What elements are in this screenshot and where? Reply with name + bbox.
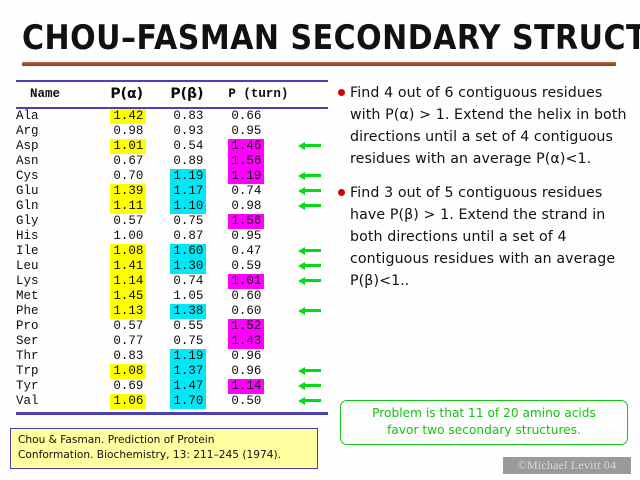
table-row: Lys1.140.741.01 bbox=[16, 274, 328, 289]
cell-p-turn: 1.01 bbox=[224, 274, 298, 289]
cell-residue-name: Gly bbox=[16, 214, 104, 229]
table-row: Met1.451.050.60 bbox=[16, 289, 328, 304]
cell-p-alpha-value: 1.45 bbox=[110, 289, 146, 304]
table-row: Trp1.081.370.96 bbox=[16, 364, 328, 379]
table-row: Pro0.570.551.52 bbox=[16, 319, 328, 334]
cell-p-turn: 0.74 bbox=[224, 184, 298, 199]
propensity-table: Name P(α) P(β) P (turn) Ala1.420.830.66A… bbox=[16, 80, 328, 409]
cell-p-alpha: 1.41 bbox=[104, 259, 164, 274]
cell-residue-name: Ser bbox=[16, 334, 104, 349]
cell-residue-name: Leu bbox=[16, 259, 104, 274]
cell-residue-name: Gln bbox=[16, 199, 104, 214]
cell-p-beta: 0.75 bbox=[164, 214, 224, 229]
row-marker bbox=[298, 304, 328, 319]
cell-p-turn: 1.19 bbox=[224, 169, 298, 184]
cell-p-alpha: 0.57 bbox=[104, 214, 164, 229]
cell-p-turn-value: 0.60 bbox=[228, 289, 264, 304]
row-marker bbox=[298, 108, 328, 124]
table-row: Gly0.570.751.56 bbox=[16, 214, 328, 229]
cell-p-turn-value: 0.74 bbox=[228, 184, 264, 199]
left-arrow-icon bbox=[298, 395, 322, 406]
cell-residue-name: Ile bbox=[16, 244, 104, 259]
cell-p-beta: 0.83 bbox=[164, 108, 224, 124]
cell-p-beta-value: 0.89 bbox=[170, 154, 206, 169]
column-header-p-alpha: P(α) bbox=[104, 81, 164, 108]
row-marker bbox=[298, 169, 328, 184]
bullet-item: Find 3 out of 5 contiguous residues have… bbox=[338, 182, 634, 292]
chou-fasman-table-container: Name P(α) P(β) P (turn) Ala1.420.830.66A… bbox=[16, 80, 328, 415]
cell-p-alpha-value: 1.39 bbox=[110, 184, 146, 199]
cell-residue-name: Val bbox=[16, 394, 104, 409]
cell-p-alpha: 1.01 bbox=[104, 139, 164, 154]
problem-note-line2: favor two secondary structures. bbox=[347, 422, 621, 439]
cell-p-beta: 1.19 bbox=[164, 169, 224, 184]
table-row: Arg0.980.930.95 bbox=[16, 124, 328, 139]
cell-p-alpha-value: 0.69 bbox=[110, 379, 146, 394]
title-block: CHOU–FASMAN SECONDARY STRUCTURE bbox=[22, 22, 622, 66]
cell-p-beta-value: 1.37 bbox=[170, 364, 206, 379]
title-underline-rule bbox=[22, 62, 616, 66]
cell-p-turn: 1.56 bbox=[224, 154, 298, 169]
cell-p-turn-value: 0.66 bbox=[228, 109, 264, 124]
left-arrow-icon bbox=[298, 185, 322, 196]
cell-p-turn-value: 0.47 bbox=[228, 244, 264, 259]
cell-p-beta: 1.47 bbox=[164, 379, 224, 394]
bullet-text: Find 4 out of 6 contiguous residues with… bbox=[350, 82, 634, 170]
column-header-p-beta: P(β) bbox=[164, 81, 224, 108]
row-marker bbox=[298, 229, 328, 244]
bullet-item: Find 4 out of 6 contiguous residues with… bbox=[338, 82, 634, 170]
column-header-name: Name bbox=[16, 81, 104, 108]
cell-p-turn: 1.14 bbox=[224, 379, 298, 394]
row-marker bbox=[298, 289, 328, 304]
row-marker bbox=[298, 214, 328, 229]
cell-p-beta: 1.38 bbox=[164, 304, 224, 319]
cell-p-alpha: 1.00 bbox=[104, 229, 164, 244]
cell-p-beta-value: 1.70 bbox=[170, 394, 206, 409]
cell-p-turn: 1.52 bbox=[224, 319, 298, 334]
cell-p-alpha: 0.83 bbox=[104, 349, 164, 364]
left-arrow-icon bbox=[298, 140, 322, 151]
column-header-marker bbox=[298, 81, 328, 108]
cell-p-alpha-value: 1.08 bbox=[110, 244, 146, 259]
cell-residue-name: His bbox=[16, 229, 104, 244]
left-arrow-icon bbox=[298, 245, 322, 256]
cell-p-alpha: 0.77 bbox=[104, 334, 164, 349]
cell-p-turn: 0.96 bbox=[224, 349, 298, 364]
row-marker bbox=[298, 379, 328, 394]
row-marker bbox=[298, 154, 328, 169]
cell-p-beta-value: 0.74 bbox=[170, 274, 206, 289]
cell-p-alpha-value: 1.11 bbox=[110, 199, 146, 214]
table-header-row: Name P(α) P(β) P (turn) bbox=[16, 81, 328, 108]
cell-p-turn-value: 0.60 bbox=[228, 304, 264, 319]
cell-p-turn: 0.66 bbox=[224, 108, 298, 124]
cell-p-alpha-value: 1.42 bbox=[110, 109, 146, 124]
row-marker bbox=[298, 124, 328, 139]
cell-residue-name: Tyr bbox=[16, 379, 104, 394]
cell-p-beta-value: 1.38 bbox=[170, 304, 206, 319]
left-arrow-icon bbox=[298, 200, 322, 211]
cell-p-alpha: 0.69 bbox=[104, 379, 164, 394]
cell-p-beta: 1.19 bbox=[164, 349, 224, 364]
row-marker bbox=[298, 334, 328, 349]
cell-p-alpha: 0.57 bbox=[104, 319, 164, 334]
left-arrow-icon bbox=[298, 305, 322, 316]
cell-p-turn-value: 1.43 bbox=[228, 334, 264, 349]
cell-p-turn: 0.98 bbox=[224, 199, 298, 214]
cell-p-beta-value: 1.17 bbox=[170, 184, 206, 199]
table-row: Ala1.420.830.66 bbox=[16, 108, 328, 124]
table-row: Tyr0.691.471.14 bbox=[16, 379, 328, 394]
cell-residue-name: Lys bbox=[16, 274, 104, 289]
table-row: His1.000.870.95 bbox=[16, 229, 328, 244]
cell-p-beta: 0.93 bbox=[164, 124, 224, 139]
cell-p-beta: 1.70 bbox=[164, 394, 224, 409]
cell-p-beta: 1.17 bbox=[164, 184, 224, 199]
cell-p-alpha-value: 0.57 bbox=[110, 214, 146, 229]
cell-p-turn: 1.43 bbox=[224, 334, 298, 349]
cell-p-beta-value: 0.87 bbox=[170, 229, 206, 244]
cell-residue-name: Ala bbox=[16, 108, 104, 124]
cell-p-beta: 1.10 bbox=[164, 199, 224, 214]
cell-p-beta-value: 0.54 bbox=[170, 139, 206, 154]
left-arrow-icon bbox=[298, 365, 322, 376]
cell-p-alpha-value: 1.01 bbox=[110, 139, 146, 154]
cell-residue-name: Phe bbox=[16, 304, 104, 319]
left-arrow-icon bbox=[298, 275, 322, 286]
row-marker bbox=[298, 319, 328, 334]
cell-p-beta-value: 0.55 bbox=[170, 319, 206, 334]
cell-p-turn-value: 0.59 bbox=[228, 259, 264, 274]
cell-p-turn-value: 0.98 bbox=[228, 199, 264, 214]
table-row: Phe1.131.380.60 bbox=[16, 304, 328, 319]
cell-p-turn-value: 0.96 bbox=[228, 349, 264, 364]
cell-p-beta-value: 1.60 bbox=[170, 244, 206, 259]
table-bottom-rule bbox=[16, 412, 328, 415]
table-row: Glu1.391.170.74 bbox=[16, 184, 328, 199]
slide-canvas: CHOU–FASMAN SECONDARY STRUCTURE Name P(α… bbox=[0, 0, 640, 480]
cell-residue-name: Asp bbox=[16, 139, 104, 154]
row-marker bbox=[298, 349, 328, 364]
problem-note-box: Problem is that 11 of 20 amino acids fav… bbox=[340, 400, 628, 445]
cell-residue-name: Thr bbox=[16, 349, 104, 364]
cell-p-beta-value: 1.19 bbox=[170, 349, 206, 364]
cell-p-turn: 1.46 bbox=[224, 139, 298, 154]
page-title: CHOU–FASMAN SECONDARY STRUCTURE bbox=[22, 22, 622, 56]
bullet-dot-icon bbox=[338, 89, 345, 96]
cell-residue-name: Trp bbox=[16, 364, 104, 379]
cell-p-turn: 0.50 bbox=[224, 394, 298, 409]
cell-p-turn-value: 1.01 bbox=[228, 274, 264, 289]
citation-box: Chou & Fasman. Prediction of Protein Con… bbox=[10, 428, 318, 469]
cell-p-beta-value: 0.75 bbox=[170, 334, 206, 349]
cell-p-alpha-value: 0.67 bbox=[110, 154, 146, 169]
table-row: Asn0.670.891.56 bbox=[16, 154, 328, 169]
cell-p-turn: 0.47 bbox=[224, 244, 298, 259]
row-marker bbox=[298, 139, 328, 154]
cell-p-turn: 0.60 bbox=[224, 289, 298, 304]
cell-p-turn-value: 1.56 bbox=[228, 214, 264, 229]
row-marker bbox=[298, 364, 328, 379]
row-marker bbox=[298, 259, 328, 274]
cell-p-beta-value: 1.47 bbox=[170, 379, 206, 394]
cell-p-beta: 0.87 bbox=[164, 229, 224, 244]
table-header: Name P(α) P(β) P (turn) bbox=[16, 81, 328, 108]
cell-p-alpha: 1.14 bbox=[104, 274, 164, 289]
cell-p-alpha: 1.11 bbox=[104, 199, 164, 214]
cell-p-turn: 0.95 bbox=[224, 229, 298, 244]
cell-p-alpha-value: 1.08 bbox=[110, 364, 146, 379]
cell-p-turn-value: 1.14 bbox=[228, 379, 264, 394]
cell-p-beta-value: 0.75 bbox=[170, 214, 206, 229]
cell-p-alpha: 1.08 bbox=[104, 244, 164, 259]
cell-p-beta-value: 1.30 bbox=[170, 259, 206, 274]
cell-p-beta-value: 0.93 bbox=[170, 124, 206, 139]
cell-p-turn: 0.60 bbox=[224, 304, 298, 319]
row-marker bbox=[298, 274, 328, 289]
copyright-watermark: ©Michael Levitt 04 bbox=[503, 457, 631, 474]
table-row: Ile1.081.600.47 bbox=[16, 244, 328, 259]
cell-p-alpha: 0.70 bbox=[104, 169, 164, 184]
cell-residue-name: Pro bbox=[16, 319, 104, 334]
cell-p-alpha: 1.39 bbox=[104, 184, 164, 199]
cell-p-turn: 0.96 bbox=[224, 364, 298, 379]
cell-p-alpha-value: 0.98 bbox=[110, 124, 146, 139]
cell-p-alpha-value: 0.83 bbox=[110, 349, 146, 364]
cell-p-beta: 1.60 bbox=[164, 244, 224, 259]
table-row: Gln1.111.100.98 bbox=[16, 199, 328, 214]
table-body: Ala1.420.830.66Arg0.980.930.95Asp1.010.5… bbox=[16, 108, 328, 409]
citation-line2: Conformation. Biochemistry, 13: 211–245 … bbox=[18, 448, 311, 463]
row-marker bbox=[298, 199, 328, 214]
cell-p-turn: 0.59 bbox=[224, 259, 298, 274]
cell-p-alpha: 1.45 bbox=[104, 289, 164, 304]
row-marker bbox=[298, 184, 328, 199]
cell-p-beta: 0.75 bbox=[164, 334, 224, 349]
bullet-dot-icon bbox=[338, 189, 345, 196]
cell-residue-name: Asn bbox=[16, 154, 104, 169]
cell-p-turn-value: 1.46 bbox=[228, 139, 264, 154]
cell-p-turn-value: 0.95 bbox=[228, 124, 264, 139]
cell-p-turn-value: 0.95 bbox=[228, 229, 264, 244]
cell-p-turn: 0.95 bbox=[224, 124, 298, 139]
cell-p-alpha-value: 0.57 bbox=[110, 319, 146, 334]
left-arrow-icon bbox=[298, 170, 322, 181]
cell-p-beta: 1.37 bbox=[164, 364, 224, 379]
column-header-p-turn: P (turn) bbox=[224, 81, 298, 108]
cell-p-beta: 1.05 bbox=[164, 289, 224, 304]
cell-p-alpha-value: 1.13 bbox=[110, 304, 146, 319]
problem-note-line1: Problem is that 11 of 20 amino acids bbox=[347, 405, 621, 422]
table-row: Asp1.010.541.46 bbox=[16, 139, 328, 154]
cell-p-alpha-value: 1.14 bbox=[110, 274, 146, 289]
cell-residue-name: Met bbox=[16, 289, 104, 304]
cell-p-turn-value: 1.52 bbox=[228, 319, 264, 334]
table-row: Leu1.411.300.59 bbox=[16, 259, 328, 274]
cell-p-beta: 1.30 bbox=[164, 259, 224, 274]
left-arrow-icon bbox=[298, 260, 322, 271]
cell-residue-name: Cys bbox=[16, 169, 104, 184]
citation-line1: Chou & Fasman. Prediction of Protein bbox=[18, 433, 311, 448]
cell-p-turn: 1.56 bbox=[224, 214, 298, 229]
table-row: Val1.061.700.50 bbox=[16, 394, 328, 409]
cell-p-alpha-value: 0.77 bbox=[110, 334, 146, 349]
cell-p-alpha: 1.42 bbox=[104, 108, 164, 124]
cell-p-alpha-value: 0.70 bbox=[110, 169, 146, 184]
cell-p-alpha: 1.08 bbox=[104, 364, 164, 379]
table-row: Thr0.831.190.96 bbox=[16, 349, 328, 364]
cell-p-turn-value: 0.50 bbox=[228, 394, 264, 409]
table-row: Cys0.701.191.19 bbox=[16, 169, 328, 184]
cell-p-alpha-value: 1.06 bbox=[110, 394, 146, 409]
cell-p-alpha: 0.67 bbox=[104, 154, 164, 169]
cell-p-alpha-value: 1.00 bbox=[110, 229, 146, 244]
cell-p-turn-value: 1.19 bbox=[228, 169, 264, 184]
rules-bullet-list: Find 4 out of 6 contiguous residues with… bbox=[338, 82, 634, 304]
cell-p-beta: 0.54 bbox=[164, 139, 224, 154]
cell-p-beta: 0.74 bbox=[164, 274, 224, 289]
row-marker bbox=[298, 244, 328, 259]
cell-p-beta: 0.89 bbox=[164, 154, 224, 169]
row-marker bbox=[298, 394, 328, 409]
cell-residue-name: Arg bbox=[16, 124, 104, 139]
cell-p-beta-value: 1.19 bbox=[170, 169, 206, 184]
cell-p-turn-value: 1.56 bbox=[228, 154, 264, 169]
cell-residue-name: Glu bbox=[16, 184, 104, 199]
cell-p-alpha: 1.06 bbox=[104, 394, 164, 409]
cell-p-beta-value: 1.10 bbox=[170, 199, 206, 214]
cell-p-beta: 0.55 bbox=[164, 319, 224, 334]
cell-p-alpha: 0.98 bbox=[104, 124, 164, 139]
cell-p-alpha: 1.13 bbox=[104, 304, 164, 319]
cell-p-beta-value: 1.05 bbox=[170, 289, 206, 304]
cell-p-turn-value: 0.96 bbox=[228, 364, 264, 379]
cell-p-beta-value: 0.83 bbox=[170, 109, 206, 124]
cell-p-alpha-value: 1.41 bbox=[110, 259, 146, 274]
left-arrow-icon bbox=[298, 380, 322, 391]
table-row: Ser0.770.751.43 bbox=[16, 334, 328, 349]
bullet-text: Find 3 out of 5 contiguous residues have… bbox=[350, 182, 634, 292]
